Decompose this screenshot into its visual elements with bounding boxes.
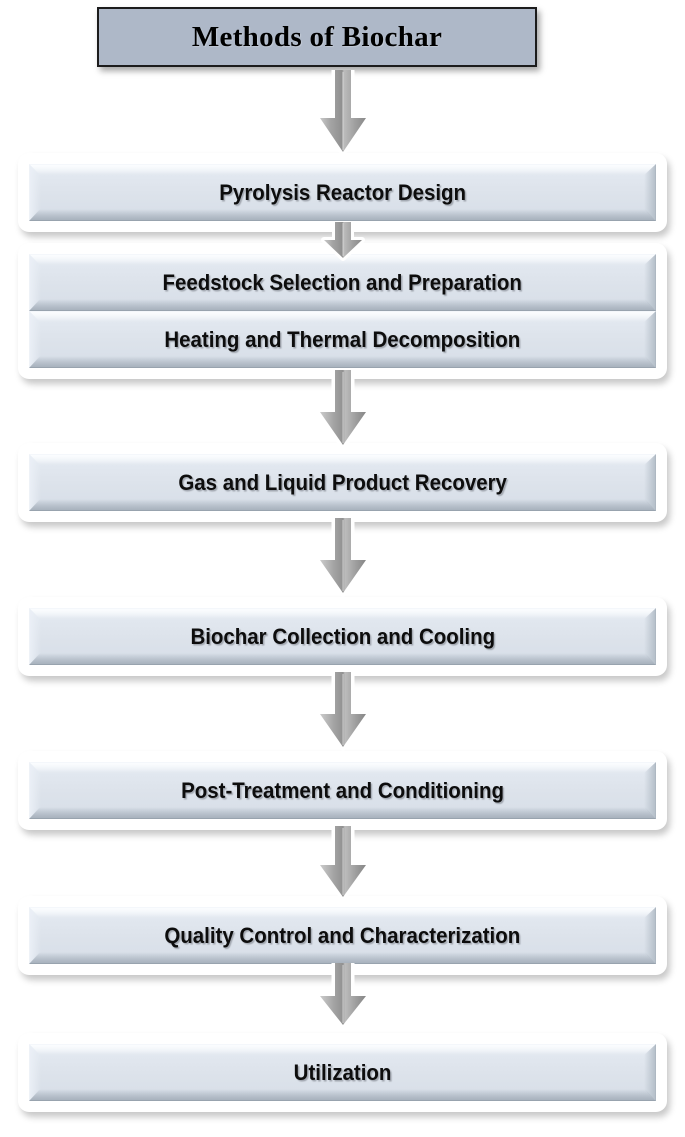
connector-arrow-step-5-to-step-6 bbox=[316, 672, 370, 754]
process-box-pyrolysis-reactor-design[interactable]: Pyrolysis Reactor Design bbox=[29, 164, 656, 221]
bevel-right bbox=[644, 312, 655, 367]
process-label: Post-Treatment and Conditioning bbox=[181, 778, 504, 804]
bevel-right bbox=[644, 255, 655, 310]
group-frame-2: Feedstock Selection and Preparation Heat… bbox=[18, 243, 667, 379]
bevel-right bbox=[644, 1045, 655, 1100]
bevel-left bbox=[30, 312, 41, 367]
process-box-feedstock-selection-and-preparation[interactable]: Feedstock Selection and Preparation bbox=[29, 254, 656, 311]
down-arrow-icon bbox=[316, 70, 370, 160]
group-frame-1: Pyrolysis Reactor Design bbox=[18, 153, 667, 232]
process-label: Feedstock Selection and Preparation bbox=[163, 270, 522, 296]
bevel-left bbox=[30, 455, 41, 510]
bevel-left bbox=[30, 255, 41, 310]
group-frame-7: Utilization bbox=[18, 1033, 667, 1112]
flowchart-canvas: Methods of Biochar Pyrolysis Reactor Des… bbox=[0, 0, 685, 1137]
process-label: Biochar Collection and Cooling bbox=[190, 624, 495, 650]
group-frame-5: Post-Treatment and Conditioning bbox=[18, 751, 667, 830]
connector-arrow-step-3-to-step-4 bbox=[316, 370, 370, 452]
process-box-heating-and-thermal-decomposition[interactable]: Heating and Thermal Decomposition bbox=[29, 311, 656, 368]
bevel-left bbox=[30, 763, 41, 818]
process-box-quality-control-and-characterization[interactable]: Quality Control and Characterization bbox=[29, 907, 656, 964]
bevel-right bbox=[644, 763, 655, 818]
bevel-left bbox=[30, 1045, 41, 1100]
bevel-left bbox=[30, 908, 41, 963]
process-label: Utilization bbox=[294, 1060, 392, 1086]
diagram-title-box: Methods of Biochar bbox=[97, 7, 537, 67]
process-label: Pyrolysis Reactor Design bbox=[219, 180, 466, 206]
down-arrow-icon bbox=[316, 672, 370, 754]
process-label: Quality Control and Characterization bbox=[165, 923, 521, 949]
down-arrow-icon bbox=[316, 826, 370, 904]
down-arrow-icon bbox=[316, 518, 370, 600]
bevel-left bbox=[30, 165, 41, 220]
process-box-gas-and-liquid-product-recovery[interactable]: Gas and Liquid Product Recovery bbox=[29, 454, 656, 511]
bevel-left bbox=[30, 609, 41, 664]
connector-arrow-step-6-to-step-7 bbox=[316, 826, 370, 904]
connector-arrow-step-4-to-step-5 bbox=[316, 518, 370, 600]
group-frame-4: Biochar Collection and Cooling bbox=[18, 597, 667, 676]
process-box-utilization[interactable]: Utilization bbox=[29, 1044, 656, 1101]
process-box-biochar-collection-and-cooling[interactable]: Biochar Collection and Cooling bbox=[29, 608, 656, 665]
down-arrow-icon bbox=[316, 370, 370, 452]
group-frame-3: Gas and Liquid Product Recovery bbox=[18, 443, 667, 522]
group-frame-6: Quality Control and Characterization bbox=[18, 896, 667, 975]
bevel-right bbox=[644, 908, 655, 963]
bevel-right bbox=[644, 165, 655, 220]
connector-arrow-title-to-step-1 bbox=[316, 70, 370, 160]
bevel-right bbox=[644, 455, 655, 510]
process-box-post-treatment-and-conditioning[interactable]: Post-Treatment and Conditioning bbox=[29, 762, 656, 819]
process-label: Heating and Thermal Decomposition bbox=[165, 327, 521, 353]
page-title: Methods of Biochar bbox=[192, 21, 442, 54]
bevel-right bbox=[644, 609, 655, 664]
process-label: Gas and Liquid Product Recovery bbox=[178, 470, 507, 496]
